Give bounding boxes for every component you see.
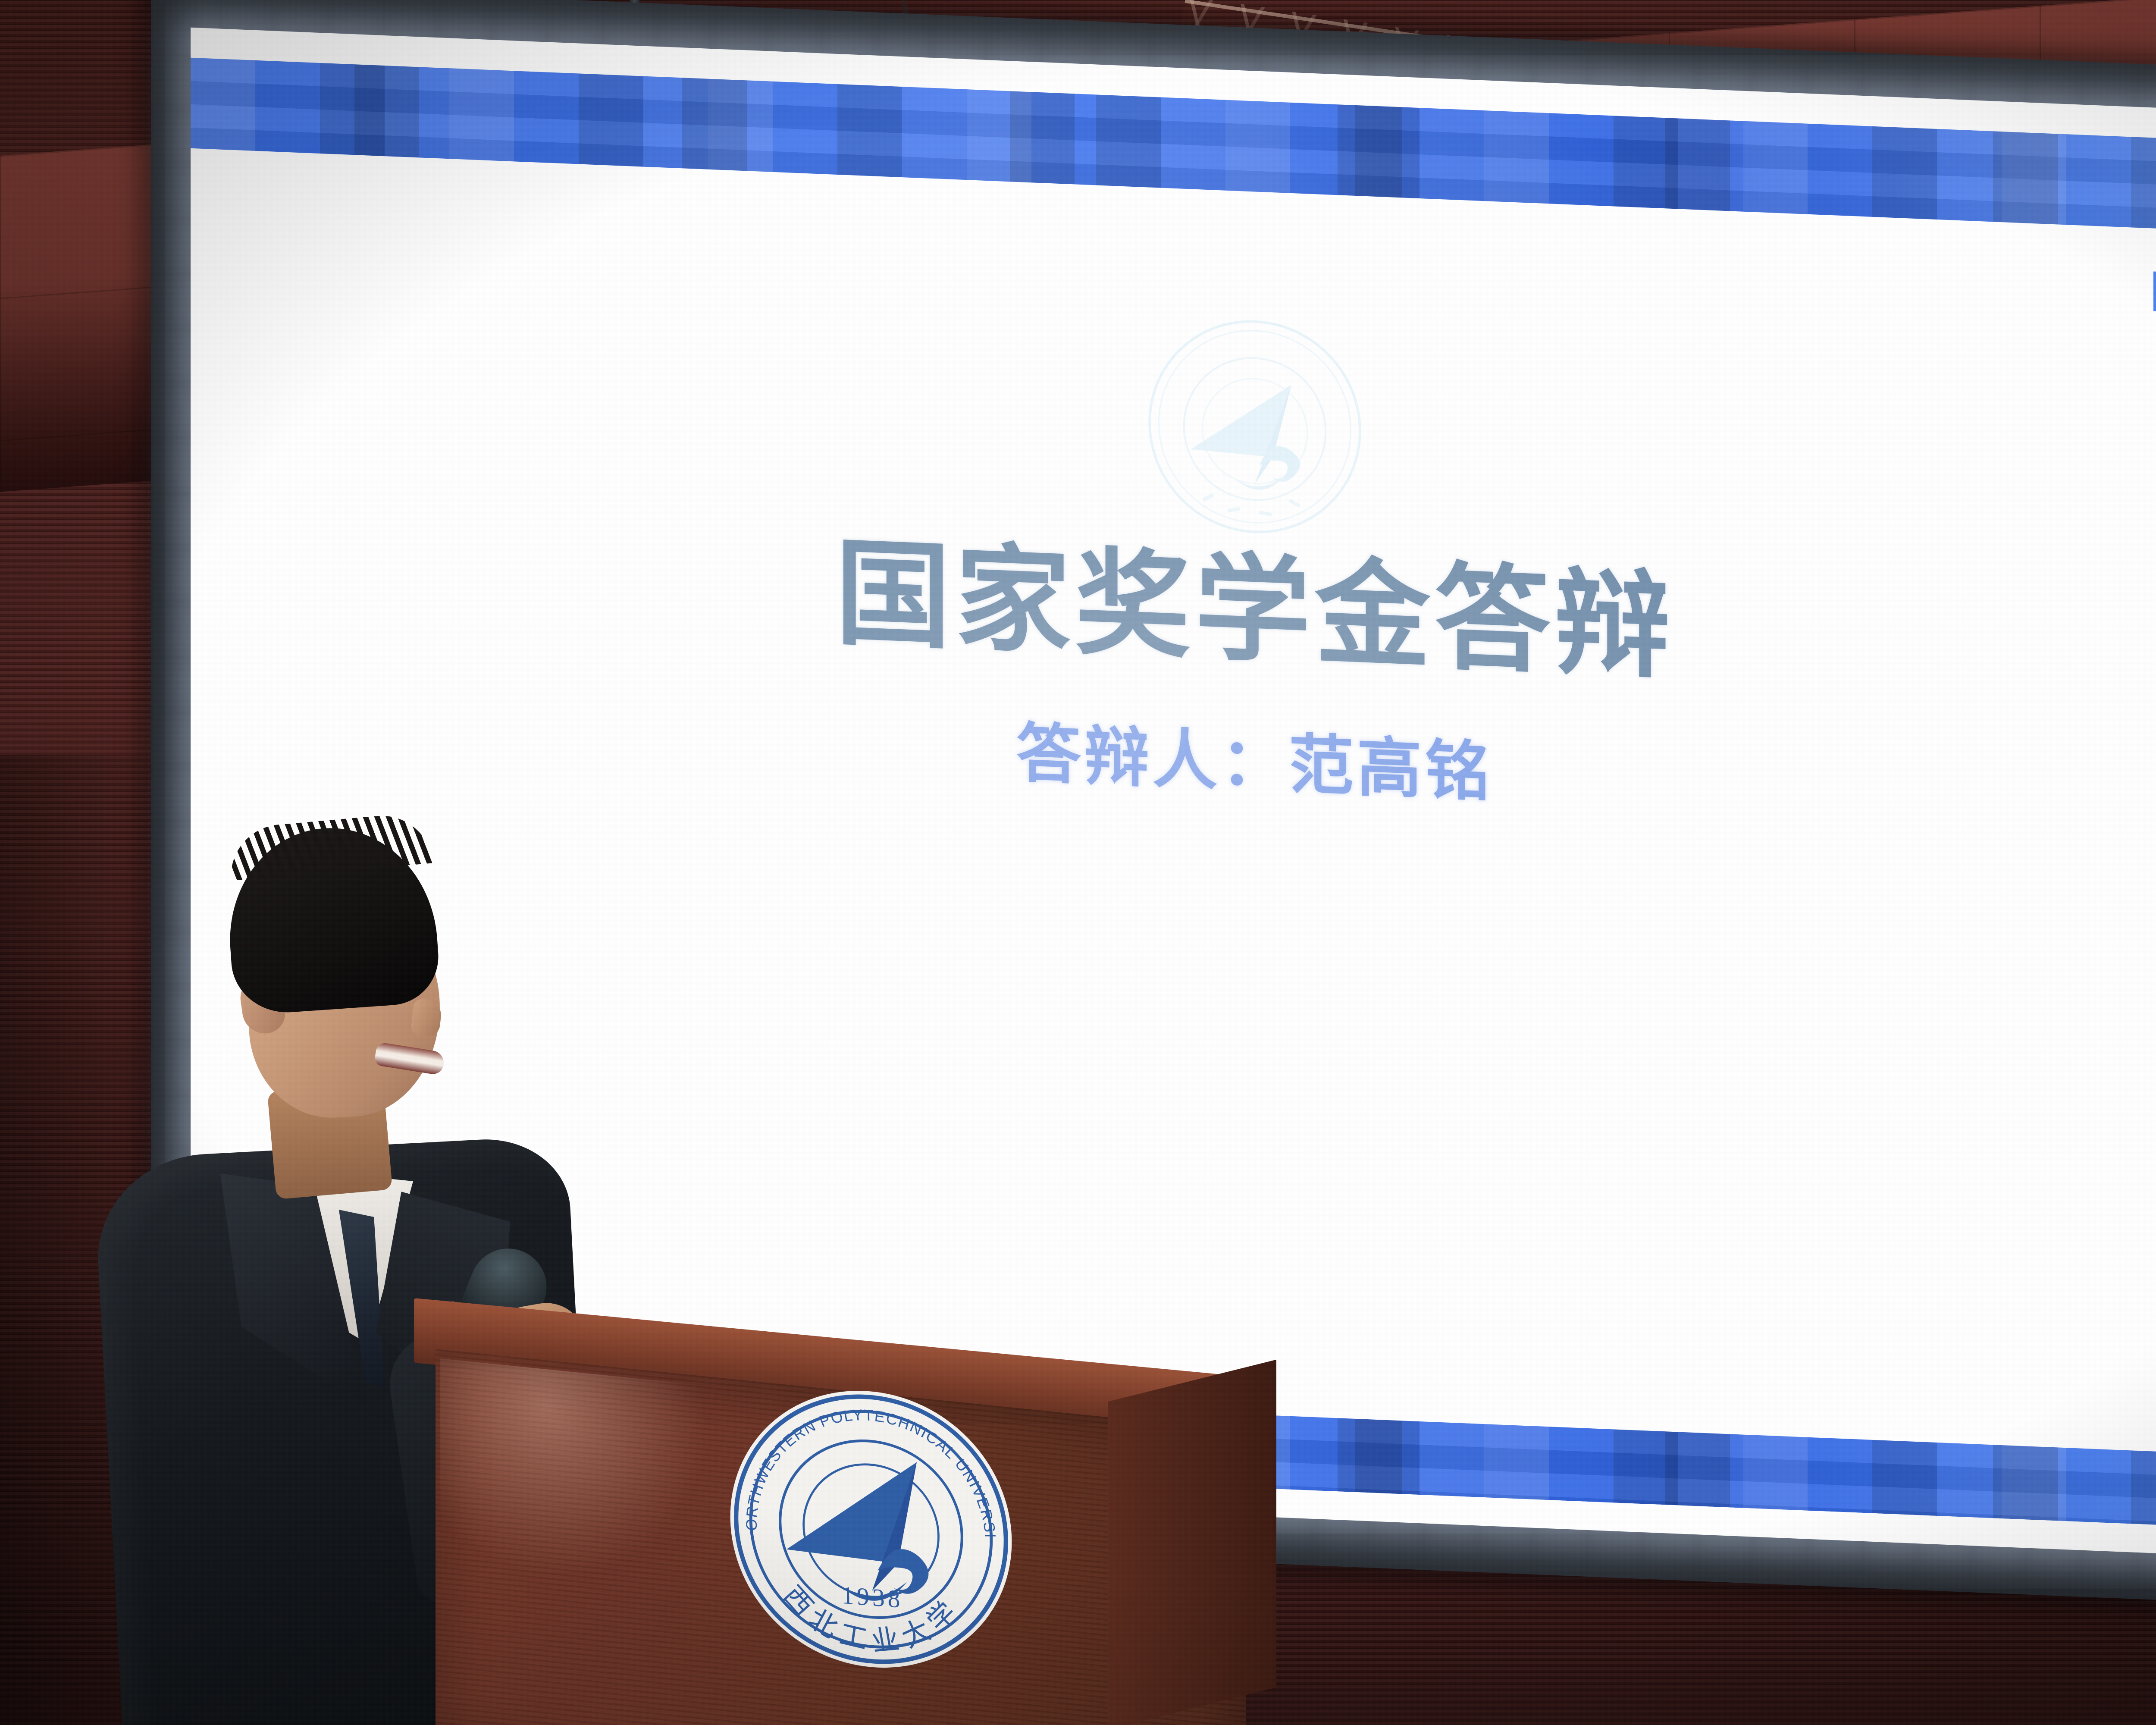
svg-text:1938: 1938: [841, 1581, 903, 1613]
lectern: 1938 NORTHWESTERN POLYTECHNICAL UNIVERSI…: [414, 1298, 1298, 1725]
accent-square-small: [2153, 271, 2156, 313]
nwpu-university-seal-icon: 1938 NORTHWESTERN POLYTECHNICAL UNIVERSI…: [722, 1372, 1020, 1687]
slide-subtitle: 答辩人：范高铭: [1016, 701, 1493, 814]
nwpu-seal-watermark-icon: [1141, 308, 1369, 546]
slide-content: 国家奖学金答辩 答辩人：范高铭: [191, 269, 2156, 848]
lectern-side-panel: [1108, 1360, 1276, 1725]
presentation-scene-photo: 国家奖学金答辩 答辩人：范高铭: [0, 0, 2156, 1725]
slide-title: 国家奖学金答辩: [835, 533, 1674, 688]
